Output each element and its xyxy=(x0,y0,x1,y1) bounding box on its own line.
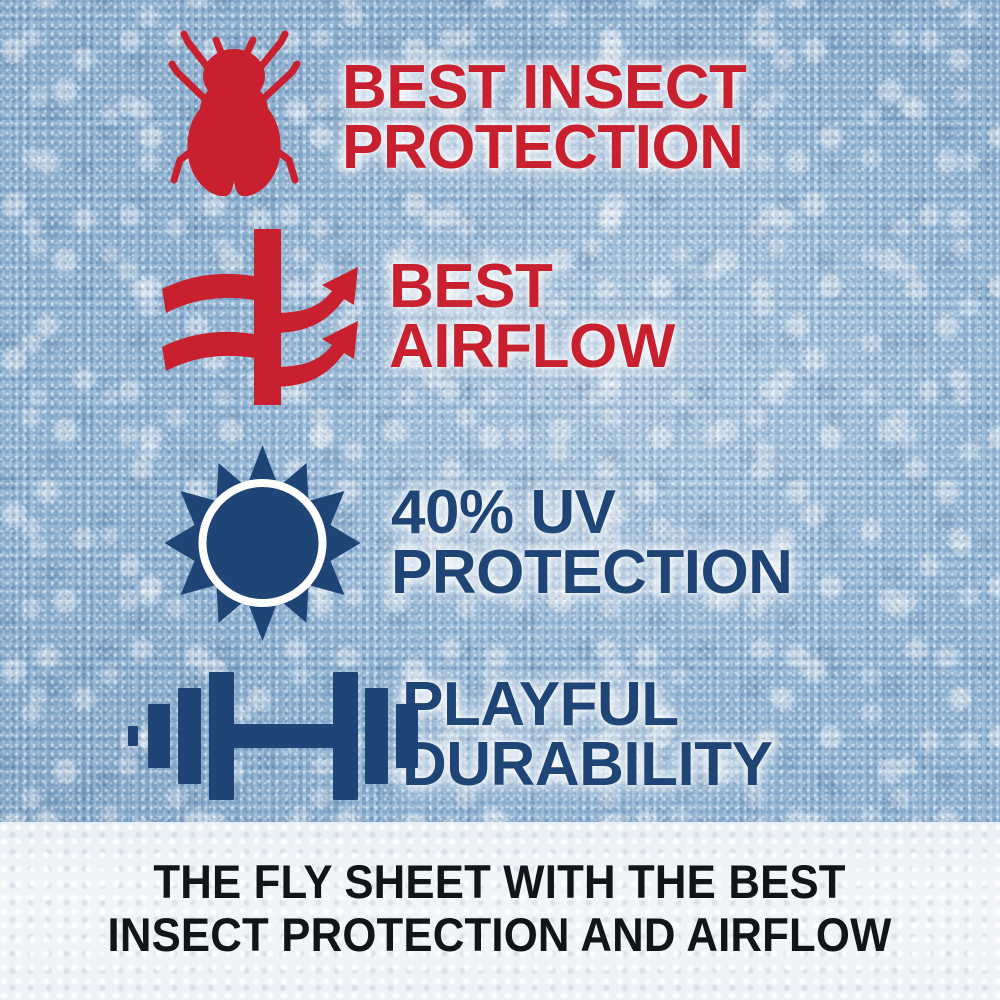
caption-headline: THE FLY SHEET WITH THE BEST INSECT PROTE… xyxy=(108,856,892,961)
caption-bar: THE FLY SHEET WITH THE BEST INSECT PROTE… xyxy=(0,822,1000,1000)
dumbbell-icon xyxy=(120,660,380,810)
feature-label-airflow: BEST AIRFLOW xyxy=(375,257,1000,377)
feature-row-durability: PLAYFUL DURABILITY xyxy=(120,650,1000,820)
airflow-arrows-icon xyxy=(150,227,375,407)
feature-list: BEST INSECT PROTECTION BEST AIRF xyxy=(0,0,1000,822)
feature-row-uv-protection: 40% UV PROTECTION xyxy=(150,438,1000,648)
feature-label-uv-protection: 40% UV PROTECTION xyxy=(375,483,1000,603)
feature-row-airflow: BEST AIRFLOW xyxy=(150,222,1000,412)
product-feature-poster: BEST INSECT PROTECTION BEST AIRF xyxy=(0,0,1000,1000)
feature-label-durability: PLAYFUL DURABILITY xyxy=(380,675,1000,795)
sun-icon xyxy=(150,443,375,643)
feature-row-insect-protection: BEST INSECT PROTECTION xyxy=(150,28,1000,208)
fly-icon xyxy=(150,28,320,208)
feature-label-insect-protection: BEST INSECT PROTECTION xyxy=(320,58,1000,178)
